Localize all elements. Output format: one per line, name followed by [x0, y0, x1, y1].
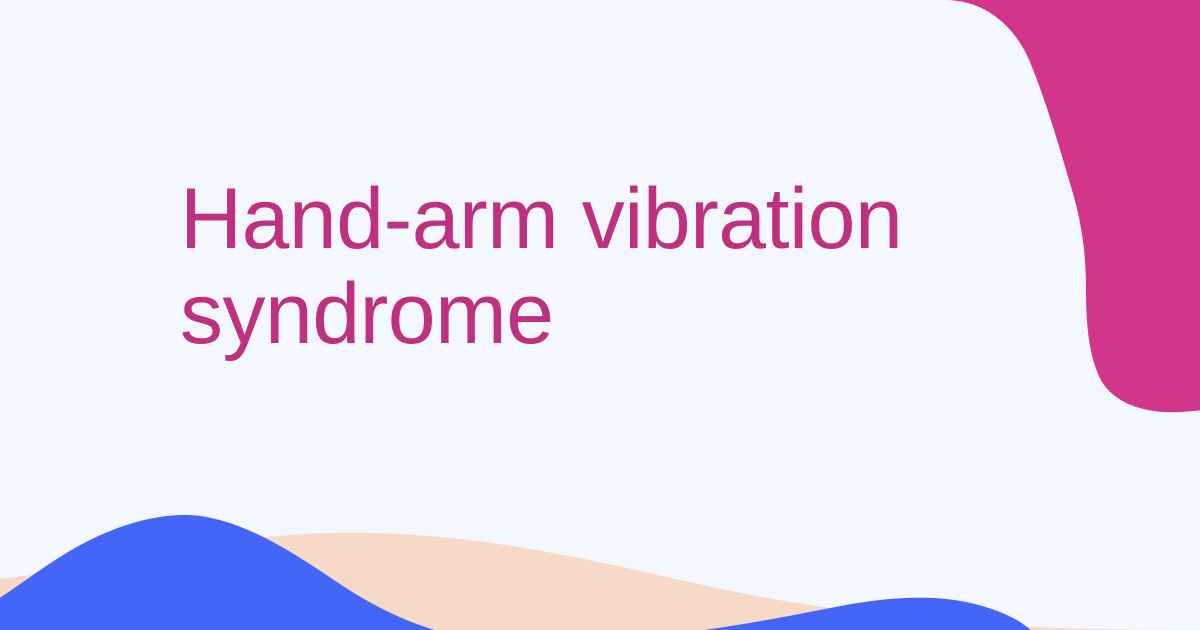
pink-blob-top-right-icon	[945, 0, 1200, 412]
peach-blob-bottom-icon	[0, 533, 1200, 630]
title-block: Hand-arm vibration syndrome	[180, 172, 940, 362]
social-share-card: Hand-arm vibration syndrome	[0, 0, 1200, 630]
blue-blob-bottom-left-icon	[0, 515, 500, 630]
page-title: Hand-arm vibration syndrome	[180, 172, 940, 362]
blue-blob-bottom-right-icon	[610, 598, 1040, 630]
